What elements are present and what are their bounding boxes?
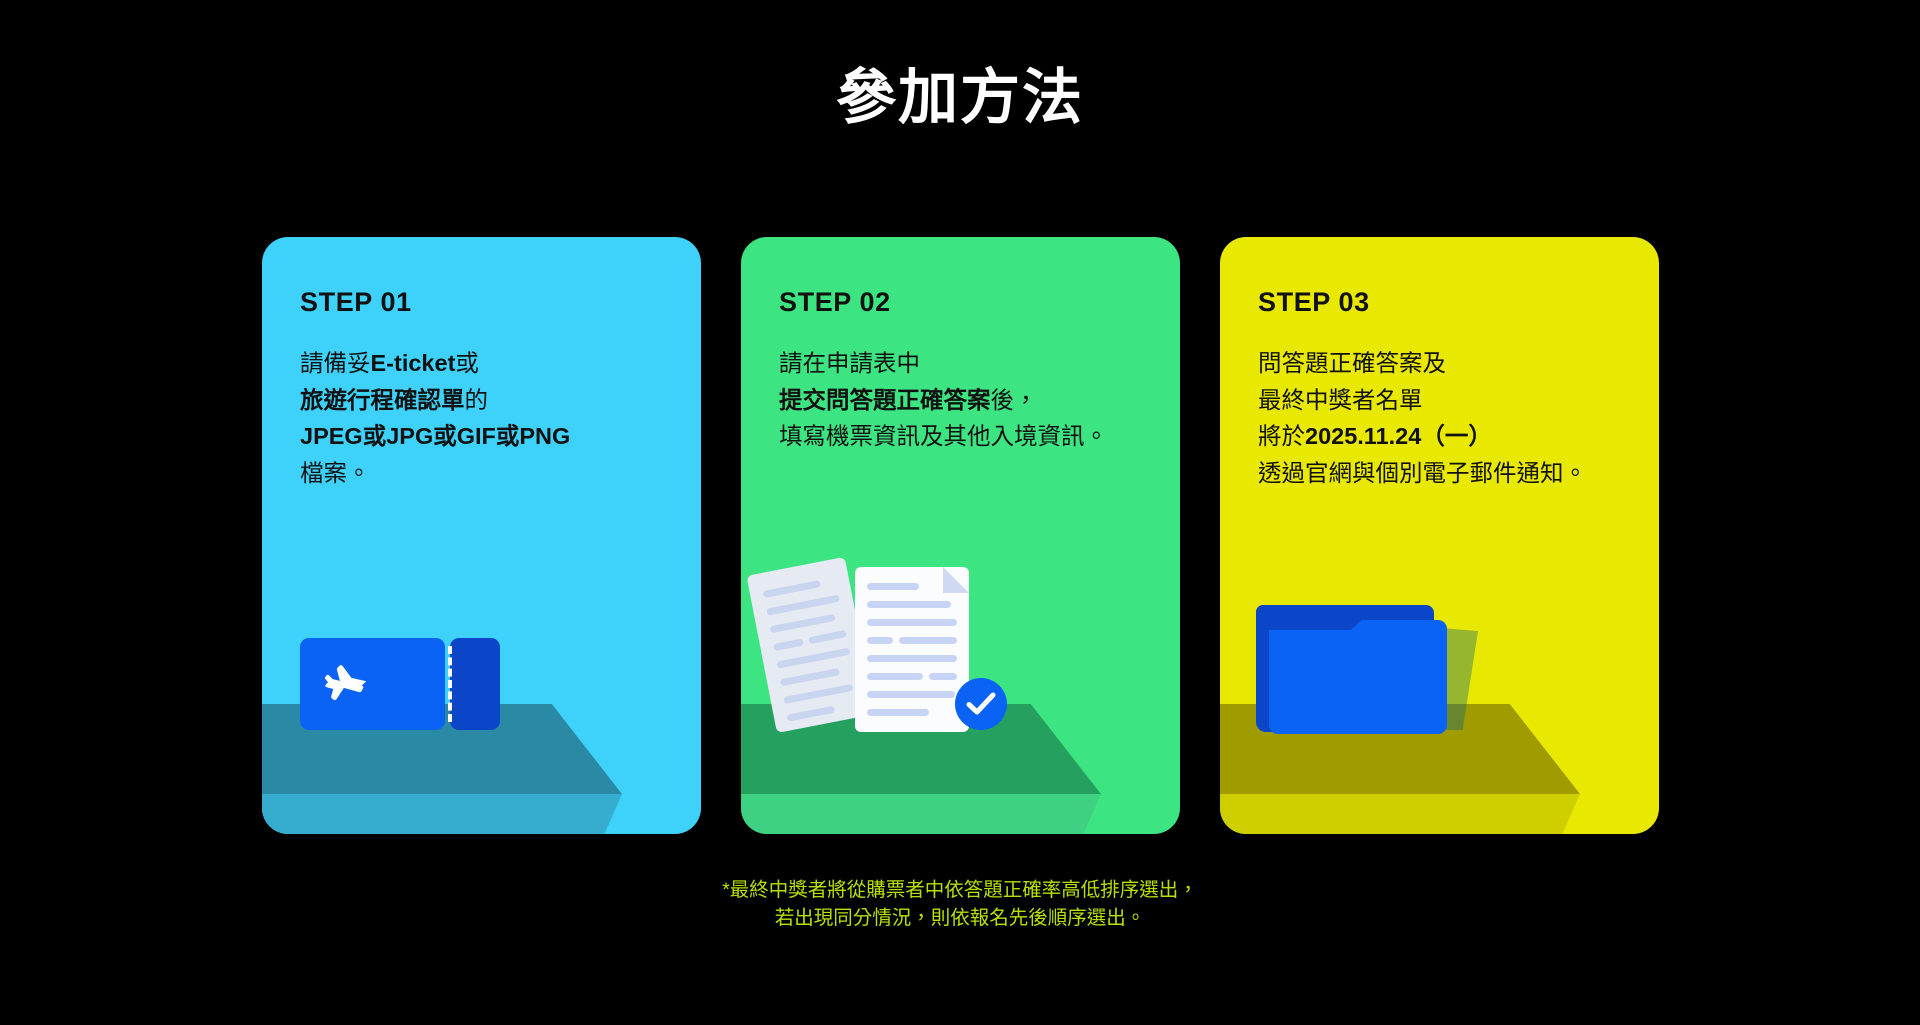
step-label: STEP 01 (300, 285, 677, 319)
plain-text: 的 (465, 387, 489, 413)
steps-card-row: STEP 01 請備妥E-ticket或 旅遊行程確認單的 JPEG或JPG或G… (262, 237, 1660, 834)
step-label: STEP 02 (779, 285, 1156, 319)
ticket-icon (300, 638, 500, 730)
ground-slab-front (1220, 794, 1659, 834)
plain-text: 透過官網與個別電子郵件通知。 (1258, 460, 1587, 486)
airplane-icon (322, 660, 372, 710)
card-text-block: STEP 02 請在申請表中 提交問答題正確答案後， 填寫機票資訊及其他入境資訊… (779, 285, 1156, 455)
step-description: 請備妥E-ticket或 旅遊行程確認單的 JPEG或JPG或GIF或PNG 檔… (300, 345, 677, 491)
emphasized-text: E-ticket (371, 350, 456, 376)
plain-text: 請在申請表中 (779, 350, 920, 376)
folder-front-panel (1269, 620, 1447, 734)
step-description: 請在申請表中 提交問答題正確答案後， 填寫機票資訊及其他入境資訊。 (779, 345, 1156, 455)
step-card-01: STEP 01 請備妥E-ticket或 旅遊行程確認單的 JPEG或JPG或G… (262, 237, 701, 834)
plain-text: 或 (455, 350, 479, 376)
ticket-tear-off-stub (450, 638, 500, 730)
emphasized-text: 提交問答題正確答案 (779, 387, 991, 413)
step-card-03: STEP 03 問答題正確答案及 最終中獎者名單 將於2025.11.24（一）… (1220, 237, 1659, 834)
step-description: 問答題正確答案及 最終中獎者名單 將於2025.11.24（一） 透過官網與個別… (1258, 345, 1635, 491)
promo-steps-section: 參加方法 STEP 01 請備妥E-ticket或 旅遊行程確認單的 JPEG或… (0, 0, 1920, 1025)
ground-slab-front (741, 794, 1180, 834)
step-label: STEP 03 (1258, 285, 1635, 319)
emphasized-text: 旅遊行程確認單 (300, 387, 465, 413)
footnote-disclaimer: *最終中獎者將從購票者中依答題正確率高低排序選出， 若出現同分情況，則依報名先後… (0, 876, 1920, 932)
page-title: 參加方法 (0, 58, 1920, 138)
folder-icon (1256, 603, 1471, 738)
card-text-block: STEP 03 問答題正確答案及 最終中獎者名單 將於2025.11.24（一）… (1258, 285, 1635, 491)
ticket-perforation-line (448, 646, 452, 722)
check-icon (955, 678, 1007, 730)
folder-tab (1256, 605, 1320, 621)
card-text-block: STEP 01 請備妥E-ticket或 旅遊行程確認單的 JPEG或JPG或G… (300, 285, 677, 491)
plain-text: 檔案。 (300, 460, 371, 486)
emphasized-text: 2025.11.24（一） (1305, 423, 1492, 449)
ground-slab-front (262, 794, 701, 834)
step-card-02: STEP 02 請在申請表中 提交問答題正確答案後， 填寫機票資訊及其他入境資訊… (741, 237, 1180, 834)
plain-text: 請備妥 (300, 350, 371, 376)
emphasized-text: JPEG或JPG或GIF或PNG (300, 423, 570, 449)
documents-icon (777, 561, 1007, 736)
